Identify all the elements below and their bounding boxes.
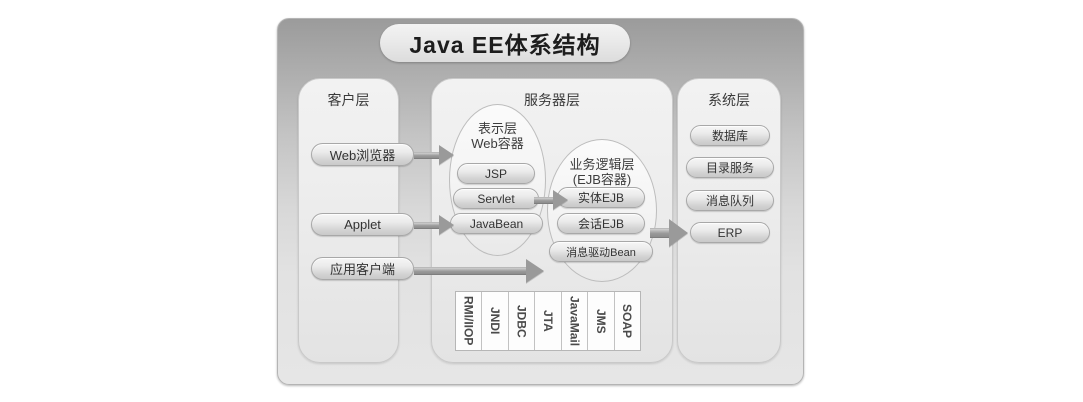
node-jsp-label: JSP — [485, 167, 507, 181]
node-entity-ejb-label: 实体EJB — [578, 189, 624, 206]
node-message-queue[interactable]: 消息队列 — [686, 190, 774, 211]
node-applet-label: Applet — [344, 217, 381, 232]
node-servlet-label: Servlet — [477, 192, 514, 206]
node-erp[interactable]: ERP — [690, 222, 770, 243]
protocol-cell-rmi-iiop[interactable]: RMI/IIOP — [456, 292, 482, 350]
node-database-label: 数据库 — [712, 127, 748, 144]
node-web-browser-label: Web浏览器 — [330, 145, 396, 164]
system-layer-panel: 系统层 — [677, 78, 781, 363]
arrow-head — [526, 259, 544, 283]
diagram-title: Java EE体系结构 — [409, 26, 600, 60]
arrow-browser-to-web-container-icon — [414, 145, 454, 165]
protocol-label-jdbc: JDBC — [515, 305, 529, 338]
ejb-container-title-line1: 业务逻辑层 — [548, 157, 656, 172]
protocol-cell-jndi[interactable]: JNDI — [482, 292, 508, 350]
node-message-driven-bean[interactable]: 消息驱动Bean — [549, 241, 653, 262]
web-container-title-line2: Web容器 — [450, 136, 545, 151]
protocol-label-rmi-iiop: RMI/IIOP — [462, 296, 476, 345]
protocol-label-jndi: JNDI — [488, 307, 502, 334]
arrow-applet-to-web-container-icon — [414, 215, 454, 235]
protocol-label-jms: JMS — [594, 309, 608, 334]
protocol-cell-jms[interactable]: JMS — [588, 292, 614, 350]
protocol-cell-jta[interactable]: JTA — [535, 292, 561, 350]
arrow-head — [553, 190, 568, 210]
protocol-strip: RMI/IIOP JNDI JDBC JTA JavaMail JMS SOAP — [455, 291, 641, 351]
arrow-head — [669, 219, 688, 247]
protocol-cell-jdbc[interactable]: JDBC — [509, 292, 535, 350]
arrow-shaft — [414, 267, 526, 275]
ejb-container-title: 业务逻辑层 (EJB容器) — [548, 157, 656, 187]
node-message-queue-label: 消息队列 — [706, 192, 754, 209]
client-layer-title: 客户层 — [299, 90, 398, 110]
web-container-title-line1: 表示层 — [450, 121, 545, 136]
node-applet[interactable]: Applet — [311, 213, 414, 236]
arrow-shaft — [534, 197, 553, 204]
arrow-shaft — [414, 222, 439, 229]
ejb-container-title-line2: (EJB容器) — [548, 172, 656, 187]
arrow-shaft — [414, 152, 439, 159]
protocol-cell-soap[interactable]: SOAP — [615, 292, 640, 350]
node-erp-label: ERP — [718, 226, 743, 240]
node-directory-service[interactable]: 目录服务 — [686, 157, 774, 178]
arrow-server-to-system-layer-icon — [650, 219, 688, 247]
web-container-title: 表示层 Web容器 — [450, 121, 545, 151]
protocol-label-soap: SOAP — [620, 304, 634, 338]
server-layer-title: 服务器层 — [432, 90, 672, 110]
protocol-cell-javamail[interactable]: JavaMail — [562, 292, 588, 350]
arrow-web-container-to-ejb-icon — [534, 190, 568, 210]
protocol-label-javamail: JavaMail — [567, 296, 581, 346]
node-application-client-label: 应用客户端 — [330, 259, 395, 278]
node-javabean[interactable]: JavaBean — [450, 213, 543, 234]
diagram-title-pill: Java EE体系结构 — [380, 24, 630, 62]
diagram-canvas: Java EE体系结构 客户层 Web浏览器 Applet 应用客户端 服务器层… — [0, 0, 1083, 402]
arrow-head — [439, 145, 454, 165]
node-web-browser[interactable]: Web浏览器 — [311, 143, 414, 166]
node-session-ejb-label: 会话EJB — [578, 215, 624, 232]
node-application-client[interactable]: 应用客户端 — [311, 257, 414, 280]
protocol-label-jta: JTA — [541, 310, 555, 332]
arrow-head — [439, 215, 454, 235]
node-directory-service-label: 目录服务 — [706, 159, 754, 176]
node-servlet[interactable]: Servlet — [453, 188, 539, 209]
node-message-driven-bean-label: 消息驱动Bean — [566, 244, 636, 260]
node-jsp[interactable]: JSP — [457, 163, 535, 184]
node-entity-ejb[interactable]: 实体EJB — [557, 187, 645, 208]
arrow-shaft — [650, 228, 669, 238]
arrow-application-client-to-ejb-icon — [414, 259, 554, 283]
node-database[interactable]: 数据库 — [690, 125, 770, 146]
node-session-ejb[interactable]: 会话EJB — [557, 213, 645, 234]
node-javabean-label: JavaBean — [470, 217, 523, 231]
system-layer-title: 系统层 — [678, 90, 780, 110]
